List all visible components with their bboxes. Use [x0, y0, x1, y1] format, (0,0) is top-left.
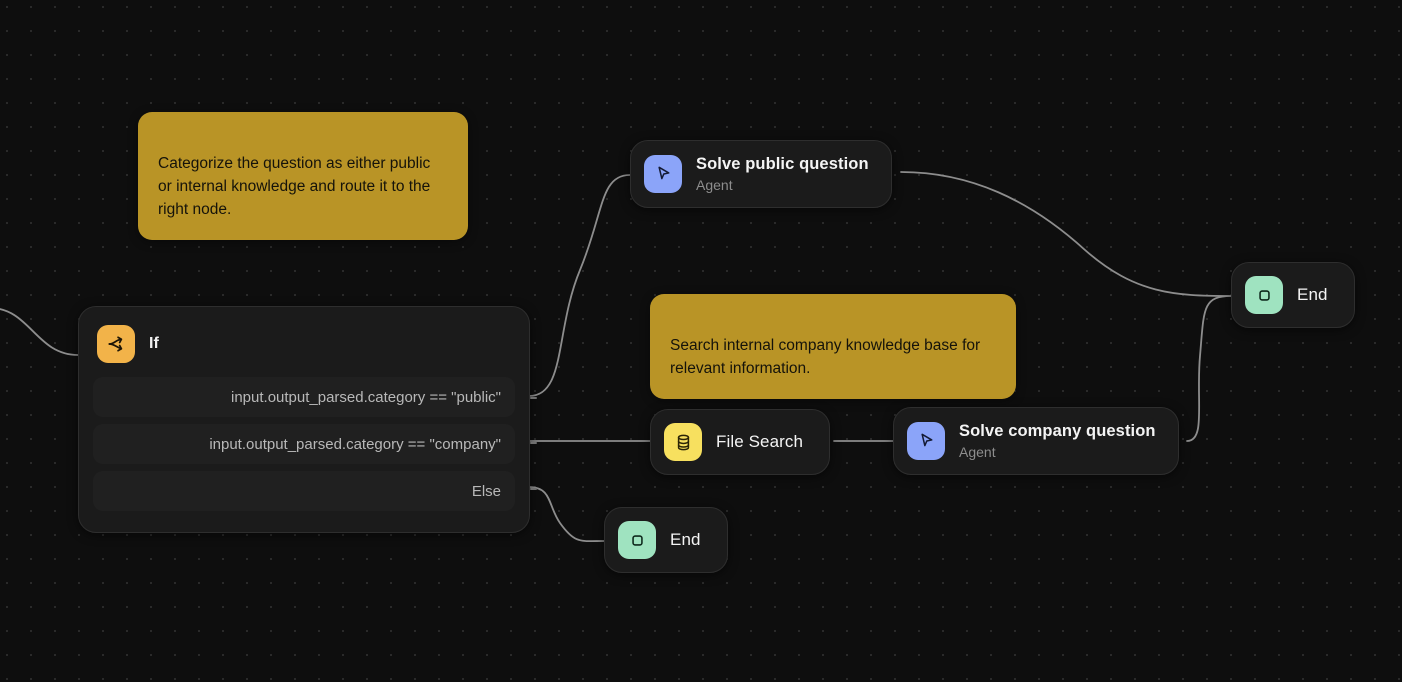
node-title: Solve public question [696, 154, 869, 175]
if-node-header: If [93, 321, 515, 377]
cursor-pointer-icon [644, 155, 682, 193]
node-label-group: File Search [716, 431, 803, 452]
node-subtitle: Agent [959, 443, 1156, 461]
stop-square-icon [618, 521, 656, 559]
if-condition-row-public[interactable]: input.output_parsed.category == "public" [93, 377, 515, 417]
if-node-title: If [149, 335, 159, 353]
if-condition-row-else[interactable]: Else [93, 471, 515, 511]
if-condition-row-company[interactable]: input.output_parsed.category == "company… [93, 424, 515, 464]
if-output-port-company[interactable] [530, 442, 537, 444]
stop-square-icon [1245, 276, 1283, 314]
if-output-port-public[interactable] [530, 397, 537, 399]
edge-if-else-to-end-bottom [529, 487, 605, 541]
edge-if-public-to-solve-public [529, 175, 630, 396]
if-output-port-else[interactable] [530, 488, 537, 490]
edge-solve-company-to-end-top [1187, 296, 1231, 441]
branch-split-icon [97, 325, 135, 363]
node-end-bottom[interactable]: End [604, 507, 728, 573]
node-title: End [670, 529, 701, 550]
node-title: Solve company question [959, 421, 1156, 442]
node-label-group: End [670, 529, 701, 550]
cursor-pointer-icon [907, 422, 945, 460]
node-if[interactable]: If input.output_parsed.category == "publ… [78, 306, 530, 533]
edge-incoming-to-if [0, 308, 78, 355]
database-icon [664, 423, 702, 461]
note-text: Categorize the question as either public… [158, 155, 430, 218]
sticky-note-categorize[interactable]: Categorize the question as either public… [138, 112, 468, 240]
if-condition-text: input.output_parsed.category == "company… [209, 436, 501, 453]
node-title: File Search [716, 431, 803, 452]
node-title: End [1297, 284, 1328, 305]
node-subtitle: Agent [696, 176, 869, 194]
node-end-top[interactable]: End [1231, 262, 1355, 328]
workflow-canvas[interactable]: Categorize the question as either public… [0, 0, 1402, 682]
note-text: Search internal company knowledge base f… [670, 337, 980, 377]
node-file-search[interactable]: File Search [650, 409, 830, 475]
sticky-note-search[interactable]: Search internal company knowledge base f… [650, 294, 1016, 399]
node-solve-company-question[interactable]: Solve company question Agent [893, 407, 1179, 475]
node-label-group: Solve company question Agent [959, 421, 1156, 461]
node-solve-public-question[interactable]: Solve public question Agent [630, 140, 892, 208]
edge-solve-public-to-end-top [901, 172, 1231, 296]
if-condition-text: Else [472, 483, 501, 500]
node-label-group: Solve public question Agent [696, 154, 869, 194]
if-condition-text: input.output_parsed.category == "public" [231, 389, 501, 406]
node-label-group: End [1297, 284, 1328, 305]
